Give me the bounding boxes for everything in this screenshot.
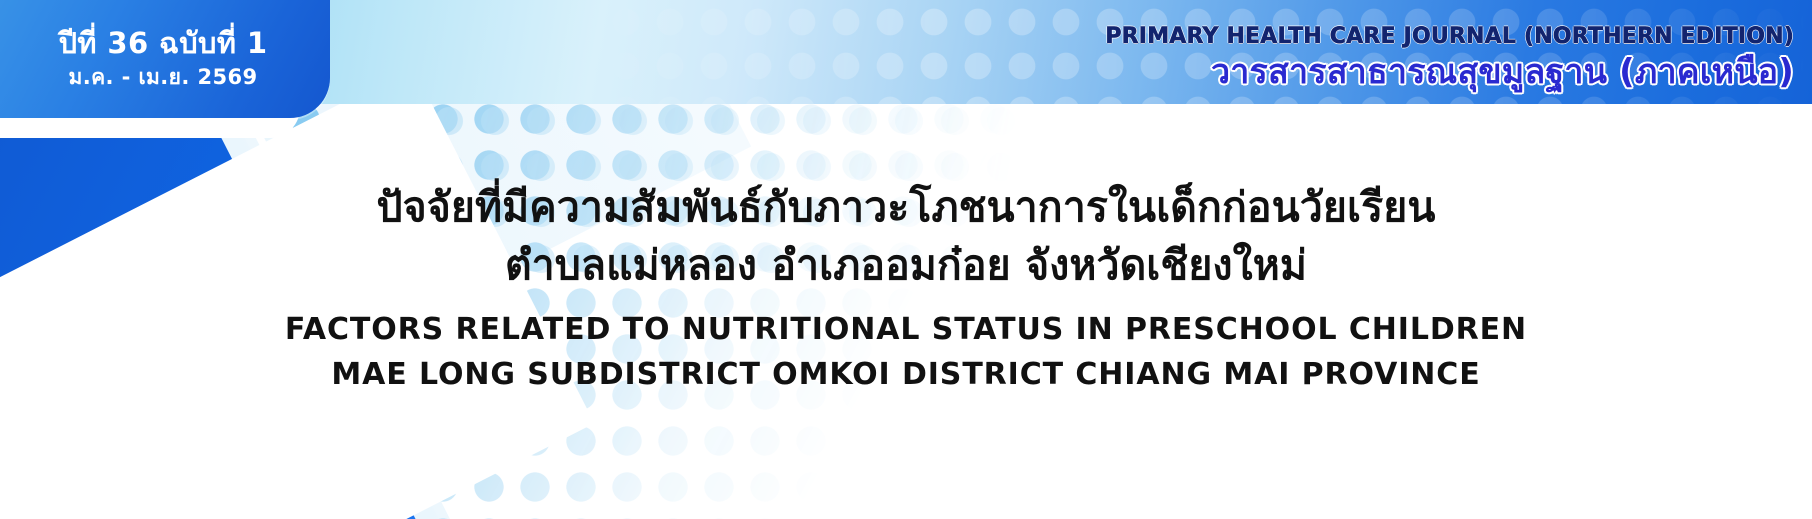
journal-title-thai: วารสารสาธารณสุขมูลฐาน (ภาคเหนือ): [1105, 55, 1794, 89]
article-english-title-line-1: FACTORS RELATED TO NUTRITIONAL STATUS IN…: [0, 307, 1812, 352]
journal-cover-header: PRIMARY HEALTH CARE JOURNAL (NORTHERN ED…: [0, 0, 1812, 519]
issue-volume-number: ปีที่ 36 ฉบับที่ 1: [59, 27, 268, 60]
article-thai-title-line-2: ตำบลแม่หลอง อำเภออมก๋อย จังหวัดเชียงใหม่: [0, 236, 1812, 294]
issue-badge: ปีที่ 36 ฉบับที่ 1 ม.ค. - เม.ย. 2569: [0, 0, 330, 118]
article-thai-title-line-1: ปัจจัยที่มีความสัมพันธ์กับภาวะโภชนาการใน…: [0, 178, 1812, 236]
issue-date-range: ม.ค. - เม.ย. 2569: [68, 64, 257, 91]
journal-title-english: PRIMARY HEALTH CARE JOURNAL (NORTHERN ED…: [1105, 26, 1794, 48]
journal-masthead: PRIMARY HEALTH CARE JOURNAL (NORTHERN ED…: [1105, 26, 1794, 89]
article-english-title-wrapper: FACTORS RELATED TO NUTRITIONAL STATUS IN…: [0, 307, 1812, 397]
article-english-title-line-2: MAE LONG SUBDISTRICT OMKOI DISTRICT CHIA…: [0, 352, 1812, 397]
article-title-block: ปัจจัยที่มีความสัมพันธ์กับภาวะโภชนาการใน…: [0, 178, 1812, 397]
